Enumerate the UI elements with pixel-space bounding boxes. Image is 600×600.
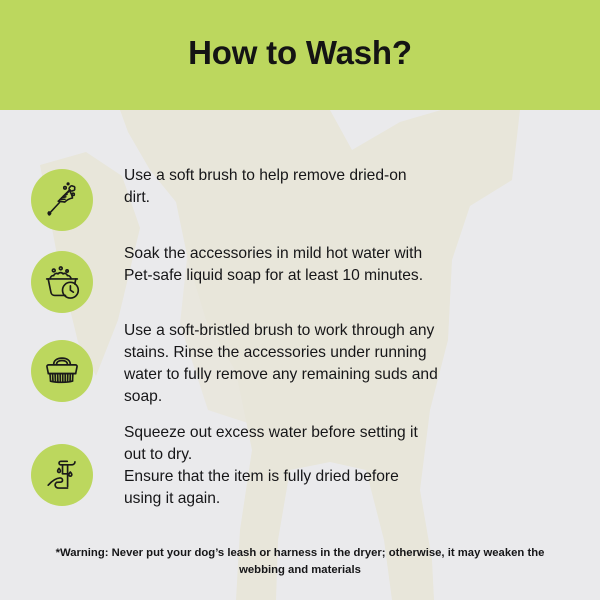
soak-basin-timer-icon (31, 251, 93, 313)
step-4-text: Squeeze out excess water before setting … (124, 422, 600, 511)
step-4-icon-wrap (0, 422, 124, 506)
warning-note: *Warning: Never put your dog’s leash or … (0, 545, 600, 579)
step-item-3: Use a soft-bristled brush to work throug… (0, 320, 600, 409)
step-3-line-1: Use a soft-bristled brush to work throug… (124, 320, 565, 342)
step-1-text: Use a soft brush to help remove dried-on… (124, 165, 600, 209)
step-2-icon-wrap (0, 243, 124, 313)
step-3-line-3: water to fully remove any remaining suds… (124, 364, 565, 386)
step-1-line-2: dirt. (124, 187, 565, 209)
how-to-wash-poster: How to Wash? (0, 0, 600, 600)
step-3-line-2: stains. Rinse the accessories under runn… (124, 342, 565, 364)
scrub-brush-icon (31, 340, 93, 402)
step-3-icon-wrap (0, 320, 124, 402)
step-1-icon-wrap (0, 165, 124, 231)
header-banner: How to Wash? (0, 0, 600, 110)
step-4-line-1: Squeeze out excess water before setting … (124, 422, 565, 444)
warning-line-2: webbing and materials (14, 562, 586, 579)
step-item-2: Soak the accessories in mild hot water w… (0, 243, 600, 313)
warning-line-1: *Warning: Never put your dog’s leash or … (14, 545, 586, 562)
page-title: How to Wash? (188, 36, 412, 75)
step-4-line-3: Ensure that the item is fully dried befo… (124, 466, 565, 488)
step-4-line-2: out to dry. (124, 444, 565, 466)
step-2-line-1: Soak the accessories in mild hot water w… (124, 243, 565, 265)
step-2-line-2: Pet-safe liquid soap for at least 10 min… (124, 265, 565, 287)
hand-under-faucet-icon (31, 444, 93, 506)
step-3-line-4: soap. (124, 386, 565, 408)
step-3-text: Use a soft-bristled brush to work throug… (124, 320, 600, 409)
step-1-line-1: Use a soft brush to help remove dried-on (124, 165, 565, 187)
step-item-4: Squeeze out excess water before setting … (0, 422, 600, 511)
step-4-line-4: using it again. (124, 488, 565, 510)
step-2-text: Soak the accessories in mild hot water w… (124, 243, 600, 287)
feather-duster-icon (31, 169, 93, 231)
step-item-1: Use a soft brush to help remove dried-on… (0, 165, 600, 231)
